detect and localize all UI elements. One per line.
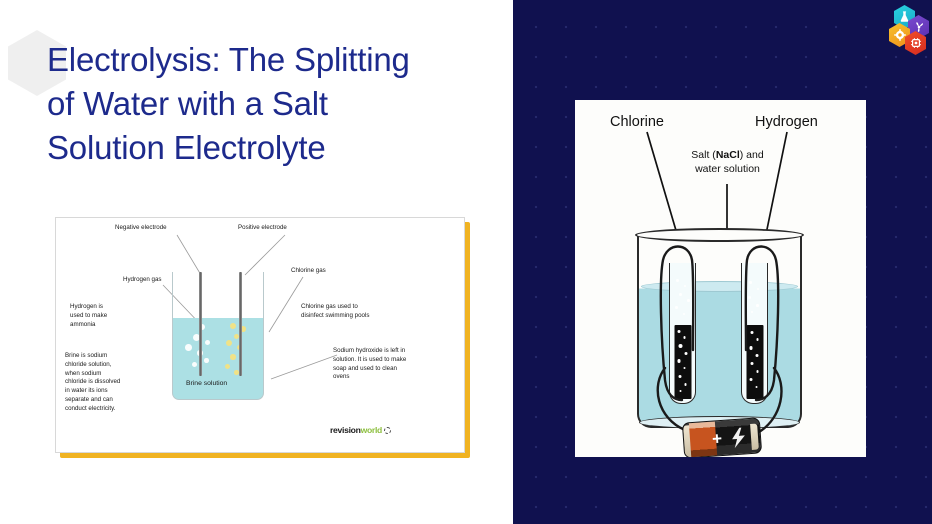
page-title: Electrolysis: The Splitting of Water wit… xyxy=(47,38,477,170)
beaker-body xyxy=(637,235,802,428)
carbon-electrode xyxy=(746,325,763,399)
battery: + xyxy=(682,417,762,457)
negative-electrode xyxy=(199,272,202,376)
salt-text-1: Salt ( xyxy=(691,149,716,161)
beaker-wall-right xyxy=(263,272,264,320)
positive-electrode-label: Positive electrode xyxy=(238,224,287,233)
chlorine-gas-label: Chlorine gas xyxy=(291,267,326,276)
nacl-formula: NaCl xyxy=(716,149,740,161)
test-tube-chlorine xyxy=(669,263,696,404)
watermark-part-2: world xyxy=(361,425,382,435)
water-surface xyxy=(641,281,798,292)
brine-solution-label: Brine solution xyxy=(186,380,227,387)
electrolysis-photo-card: Chlorine Hydrogen Salt (NaCl) andwater s… xyxy=(575,100,866,457)
chlorine-use-note: Chlorine gas used to disinfect swimming … xyxy=(301,303,431,321)
sodium-hydroxide-note: Sodium hydroxide is left in solution. It… xyxy=(333,347,453,382)
chlorine-label: Chlorine xyxy=(610,114,664,130)
brine-note: Brine is sodium chloride solution, when … xyxy=(65,352,155,414)
watermark-part-1: revision xyxy=(330,425,361,435)
beaker-wall-left xyxy=(172,272,173,320)
icon-cluster xyxy=(887,4,931,54)
lightning-bolt-icon xyxy=(727,426,750,449)
salt-text-2: ) and xyxy=(740,149,764,161)
negative-electrode-label: Negative electrode xyxy=(115,224,167,233)
battery-terminal-right xyxy=(750,424,759,450)
slide-canvas: Chlorine Hydrogen Salt (NaCl) andwater s… xyxy=(0,0,932,524)
carbon-electrode xyxy=(674,325,691,399)
battery-plus-label: + xyxy=(707,430,726,449)
hydrogen-label: Hydrogen xyxy=(755,114,818,130)
hydrogen-use-note: Hydrogen is used to make ammonia xyxy=(70,303,148,329)
revisionworld-watermark: revisionworld xyxy=(330,425,391,435)
positive-electrode xyxy=(239,272,242,376)
salt-solution-label: Salt (NaCl) andwater solution xyxy=(675,148,780,176)
salt-text-3: water solution xyxy=(695,163,760,175)
test-tube-hydrogen xyxy=(741,263,768,404)
watermark-gear-icon xyxy=(384,427,391,434)
beaker-rim xyxy=(635,228,804,242)
hydrogen-gas-label: Hydrogen gas xyxy=(123,276,162,285)
brine-beaker xyxy=(172,318,264,400)
